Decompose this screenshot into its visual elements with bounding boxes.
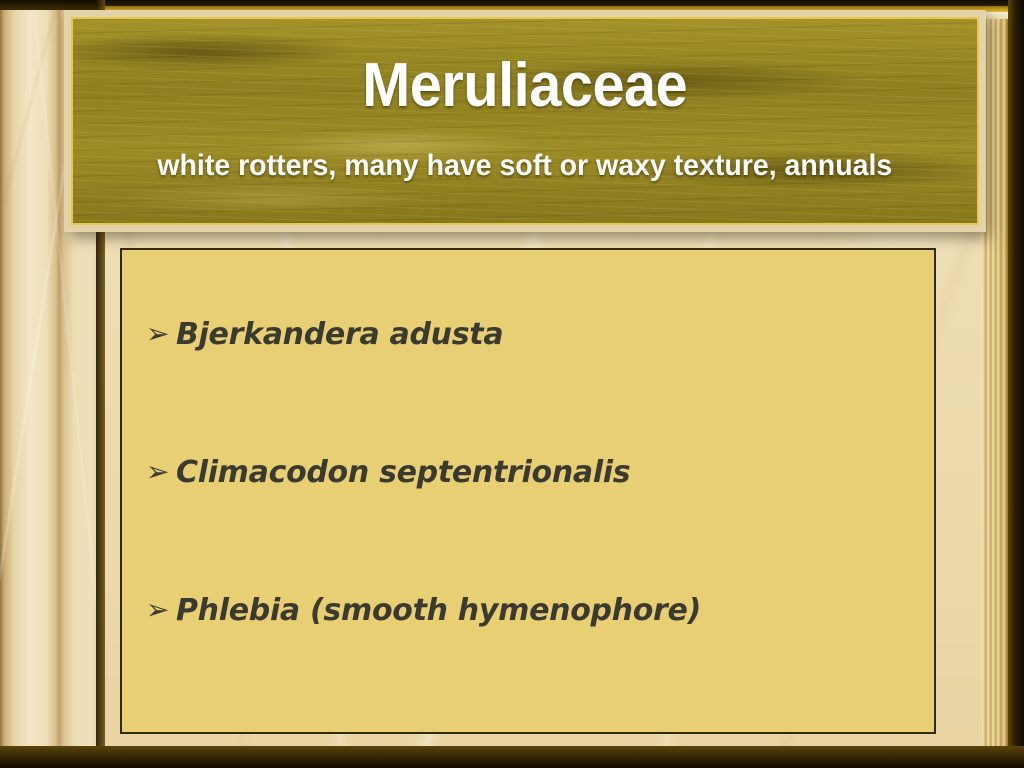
content-panel: ➢ Bjerkandera adusta ➢ Climacodon septen…: [120, 248, 936, 734]
species-name: Climacodon septentrionalis: [176, 458, 630, 488]
list-item: ➢ Bjerkandera adusta: [134, 320, 934, 458]
list-item: ➢ Phlebia (smooth hymenophore): [134, 596, 934, 734]
frame-bottom-border: [0, 746, 1024, 768]
slide-subtitle: white rotters, many have soft or waxy te…: [158, 117, 893, 181]
arrow-bullet-icon: ➢: [146, 596, 176, 624]
species-bullet-list: ➢ Bjerkandera adusta ➢ Climacodon septen…: [122, 250, 934, 734]
list-item: ➢ Climacodon septentrionalis: [134, 458, 934, 596]
arrow-bullet-icon: ➢: [146, 458, 176, 486]
arrow-bullet-icon: ➢: [146, 320, 176, 348]
frame-right-border: [1008, 0, 1024, 768]
title-banner-text-group: Meruliaceae white rotters, many have sof…: [73, 19, 977, 223]
slide-title: Meruliaceae: [362, 19, 687, 117]
slide-canvas: Meruliaceae white rotters, many have sof…: [0, 0, 1024, 768]
species-name: Phlebia (smooth hymenophore): [176, 596, 701, 626]
species-name: Bjerkandera adusta: [176, 320, 503, 350]
